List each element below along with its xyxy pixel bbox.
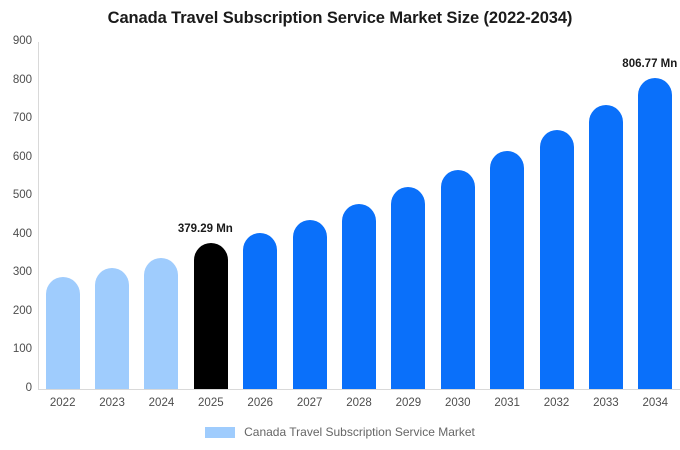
plot-area xyxy=(38,42,680,389)
y-axis-tick-label: 800 xyxy=(0,74,32,86)
y-axis-tick-label: 900 xyxy=(0,35,32,47)
x-axis-tick-label: 2033 xyxy=(581,397,630,409)
bar-2022[interactable] xyxy=(46,277,80,389)
y-axis-tick-label: 500 xyxy=(0,189,32,201)
x-axis-tick-label: 2024 xyxy=(137,397,186,409)
x-axis-tick-label: 2029 xyxy=(384,397,433,409)
x-axis-tick-label: 2032 xyxy=(532,397,581,409)
x-axis-tick-label: 2031 xyxy=(482,397,531,409)
chart-title: Canada Travel Subscription Service Marke… xyxy=(0,9,680,28)
chart-legend[interactable]: Canada Travel Subscription Service Marke… xyxy=(0,425,680,439)
bar-2024[interactable] xyxy=(144,258,178,389)
bar-2029[interactable] xyxy=(391,187,425,389)
x-axis-tick-label: 2027 xyxy=(285,397,334,409)
x-axis-tick-label: 2030 xyxy=(433,397,482,409)
y-axis-tick-label: 300 xyxy=(0,266,32,278)
chart-container: Canada Travel Subscription Service Marke… xyxy=(0,0,680,450)
legend-swatch-icon xyxy=(205,427,235,438)
bar-2025[interactable] xyxy=(194,243,228,389)
x-axis-tick-label: 2034 xyxy=(631,397,680,409)
x-axis-tick-label: 2026 xyxy=(236,397,285,409)
y-axis: 9008007006005004003002001000 xyxy=(0,0,32,450)
x-axis-tick-label: 2025 xyxy=(186,397,235,409)
bar-2032[interactable] xyxy=(540,130,574,389)
legend-label: Canada Travel Subscription Service Marke… xyxy=(244,425,475,439)
bar-2026[interactable] xyxy=(243,233,277,389)
x-axis-tick-label: 2028 xyxy=(334,397,383,409)
data-label-2025: 379.29 Mn xyxy=(178,223,233,235)
y-axis-tick-label: 600 xyxy=(0,151,32,163)
bar-2028[interactable] xyxy=(342,204,376,389)
y-axis-tick-label: 200 xyxy=(0,305,32,317)
bar-2023[interactable] xyxy=(95,268,129,389)
y-axis-tick-label: 400 xyxy=(0,228,32,240)
y-axis-tick-label: 0 xyxy=(0,382,32,394)
bar-2033[interactable] xyxy=(589,105,623,389)
x-axis-tick-label: 2023 xyxy=(87,397,136,409)
x-axis-line xyxy=(38,389,680,390)
bar-2030[interactable] xyxy=(441,170,475,389)
bar-2034[interactable] xyxy=(638,78,672,389)
x-axis-tick-label: 2022 xyxy=(38,397,87,409)
bar-2027[interactable] xyxy=(293,220,327,389)
y-axis-tick-label: 700 xyxy=(0,112,32,124)
y-axis-tick-label: 100 xyxy=(0,343,32,355)
x-axis: 2022202320242025202620272028202920302031… xyxy=(38,393,680,415)
data-label-2034: 806.77 Mn xyxy=(622,58,677,70)
bar-2031[interactable] xyxy=(490,151,524,389)
